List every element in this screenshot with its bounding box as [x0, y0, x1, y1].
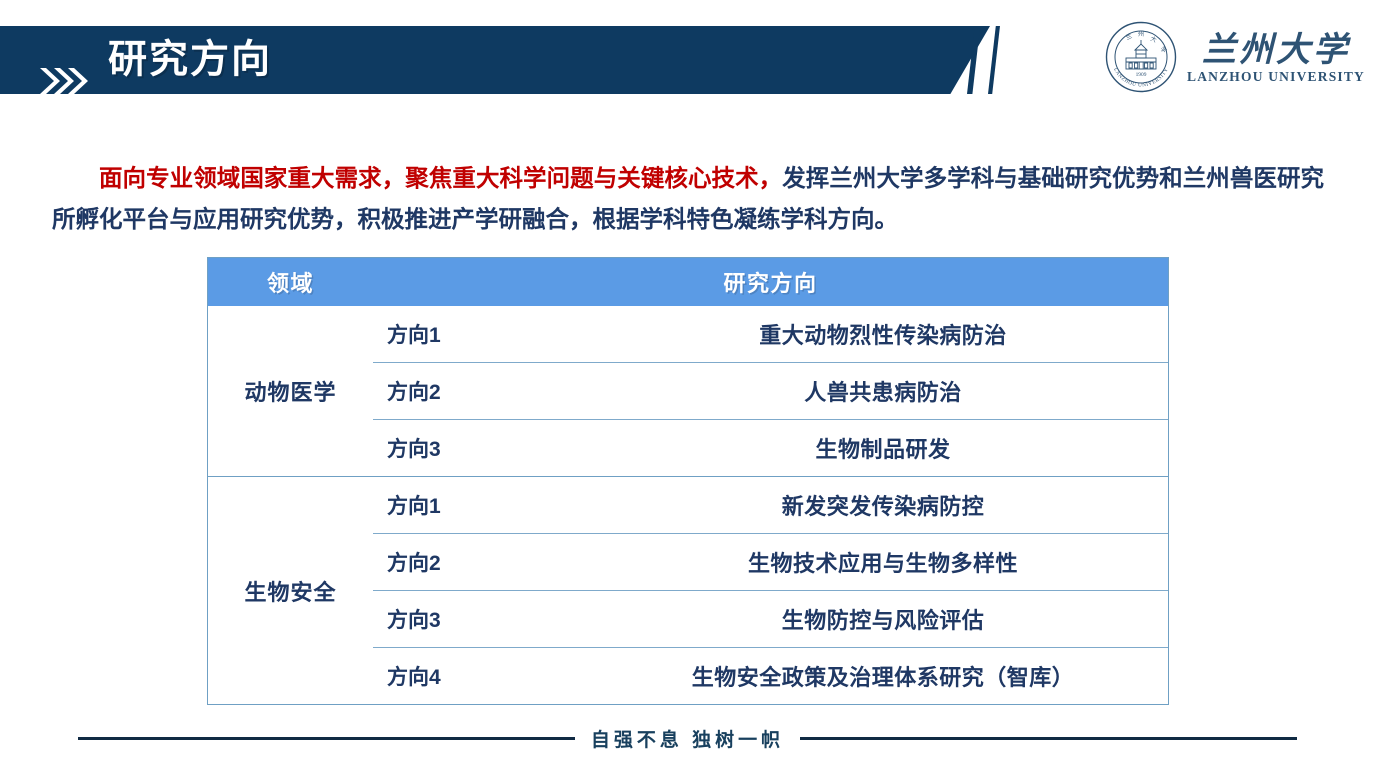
- logo-name-cn: 兰州大学: [1202, 33, 1350, 69]
- cell-field: 生物安全: [208, 477, 373, 705]
- table-header-row: 领域 研究方向: [208, 258, 1168, 306]
- page-title: 研究方向: [108, 41, 272, 80]
- cell-direction-name: 生物防控与风险评估: [598, 591, 1168, 648]
- cell-direction-name: 人兽共患病防治: [598, 363, 1168, 420]
- cell-direction-number: 方向3: [373, 420, 598, 477]
- table-row: 动物医学方向1重大动物烈性传染病防治: [208, 306, 1168, 363]
- cell-direction-number: 方向4: [373, 648, 598, 705]
- cell-direction-name: 生物技术应用与生物多样性: [598, 534, 1168, 591]
- footer-rule-right: [800, 737, 1297, 740]
- footer-rule-left: [78, 737, 575, 740]
- header-accent-stripe-2: [988, 26, 1018, 94]
- svg-text:1909: 1909: [1136, 72, 1147, 78]
- cell-direction-name: 生物安全政策及治理体系研究（智库）: [598, 648, 1168, 705]
- cell-direction-name: 生物制品研发: [598, 420, 1168, 477]
- university-logo: 兰 州 大 学 1909 LANZHOU UNIVERSITY: [1105, 22, 1353, 96]
- cell-direction-number: 方向1: [373, 306, 598, 363]
- cell-direction-name: 新发突发传染病防控: [598, 477, 1168, 534]
- cell-direction-number: 方向3: [373, 591, 598, 648]
- double-chevron-right-icon: [38, 66, 94, 96]
- research-directions-table: 领域 研究方向 动物医学方向1重大动物烈性传染病防治方向2人兽共患病防治方向3生…: [207, 257, 1169, 705]
- cell-direction-number: 方向2: [373, 363, 598, 420]
- footer-motto: 自强不息 独树一帜: [591, 725, 784, 752]
- svg-text:兰: 兰: [1124, 31, 1133, 41]
- intro-highlight: 面向专业领域国家重大需求，聚焦重大科学问题与关键核心技术，: [99, 165, 782, 191]
- slide-footer: 自强不息 独树一帜: [0, 723, 1375, 753]
- column-header-direction: 研究方向: [373, 258, 1168, 306]
- cell-direction-name: 重大动物烈性传染病防治: [598, 306, 1168, 363]
- intro-paragraph: 面向专业领域国家重大需求，聚焦重大科学问题与关键核心技术，发挥兰州大学多学科与基…: [52, 158, 1324, 240]
- table-row: 生物安全方向1新发突发传染病防控: [208, 477, 1168, 534]
- lanzhou-university-seal-icon: 兰 州 大 学 1909 LANZHOU UNIVERSITY: [1105, 21, 1177, 98]
- cell-field: 动物医学: [208, 306, 373, 477]
- column-header-field: 领域: [208, 258, 373, 306]
- slide-header: 研究方向: [0, 26, 1010, 94]
- svg-text:州: 州: [1138, 31, 1144, 38]
- cell-direction-number: 方向2: [373, 534, 598, 591]
- logo-name-en: LANZHOU UNIVERSITY: [1187, 69, 1365, 85]
- cell-direction-number: 方向1: [373, 477, 598, 534]
